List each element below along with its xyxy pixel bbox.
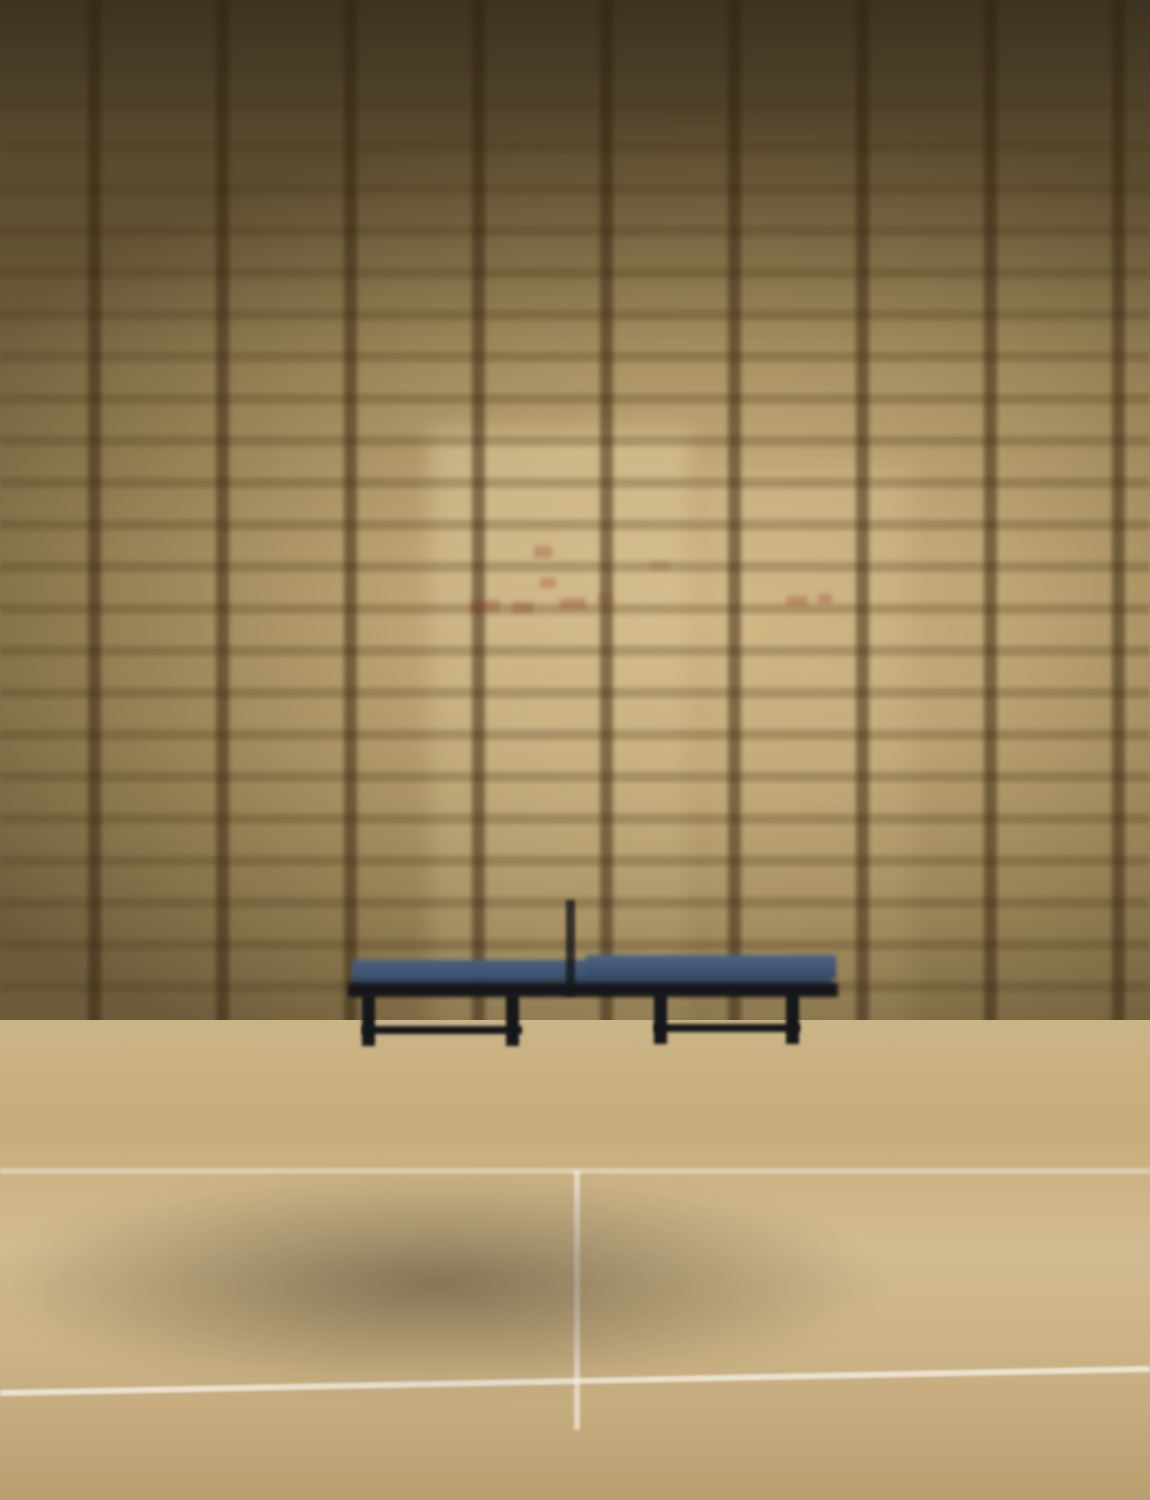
gym-photo-background [0, 0, 1150, 1500]
wall-marking [540, 578, 556, 588]
wall-marking [512, 602, 534, 613]
background-table-net-post [566, 900, 575, 996]
background-table-leg [506, 994, 519, 1046]
wall-marking [818, 594, 832, 604]
wall-marking [560, 598, 586, 609]
wall-marking [470, 600, 500, 612]
background-table-leg [654, 992, 667, 1044]
background-table-crossbar [362, 1026, 522, 1034]
wall-marking [650, 560, 670, 570]
background-table-surface-2 [586, 955, 836, 979]
background-table-leg [786, 992, 799, 1044]
background-table-edge [348, 983, 838, 997]
background-table-leg [362, 994, 375, 1046]
table-centre-line [0, 428, 754, 431]
table-floor-shadow [0, 1170, 1150, 1450]
table-surface [0, 0, 1010, 132]
wall-marking [786, 596, 808, 606]
background-table-crossbar [654, 1024, 800, 1032]
wall-marking [534, 546, 552, 558]
wall-bars-vertical [0, 0, 1150, 1060]
product-poster: PROFEFSSIONAL GRADE PING PONG BALL Super… [0, 0, 1150, 1500]
wall-marking [598, 594, 612, 604]
